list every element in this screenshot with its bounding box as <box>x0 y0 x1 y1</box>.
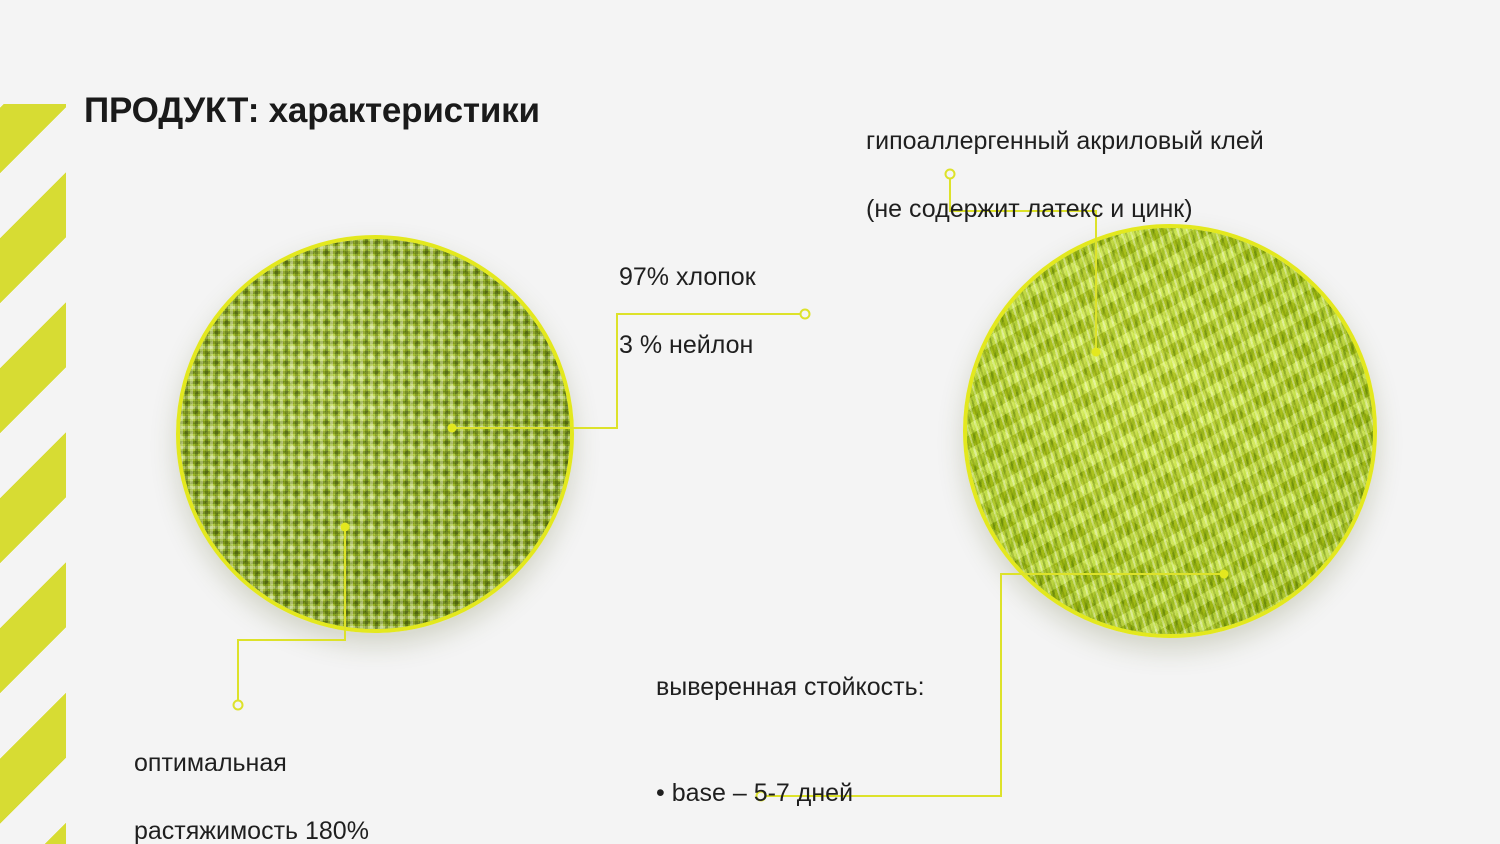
callout-composition: 97% хлопок 3 % нейлон <box>619 226 756 396</box>
callout-stretch: оптимальная растяжимость 180% <box>134 712 369 844</box>
callout-adhesive-line2: (не содержит латекс и цинк) <box>866 192 1264 226</box>
callout-composition-line2: 3 % нейлон <box>619 328 756 362</box>
callout-adhesive-line1: гипоаллергенный акриловый клей <box>866 124 1264 158</box>
fabric-swatch-left <box>176 235 574 633</box>
list-item: • base – 5-7 дней <box>656 776 925 812</box>
slide-root: ПРОДУКТ: характеристики <box>0 0 1500 844</box>
fabric-texture-woven <box>180 239 570 629</box>
page-title: ПРОДУКТ: характеристики <box>84 91 540 131</box>
fabric-swatch-right <box>963 224 1377 638</box>
diagonal-stripes-decoration <box>0 104 66 844</box>
callout-stretch-line2: растяжимость 180% <box>134 814 369 844</box>
fabric-texture-knit <box>967 228 1373 634</box>
callout-adhesive: гипоаллергенный акриловый клей (не содер… <box>866 90 1264 260</box>
callout-durability-list: • base – 5-7 дней • storm – 5-9 дней • a… <box>656 742 925 844</box>
stripe-pattern <box>0 104 66 844</box>
callout-durability-title: выверенная стойкость: <box>656 670 925 704</box>
connector-composition-end-dot <box>801 310 810 319</box>
callout-durability: выверенная стойкость: • base – 5-7 дней … <box>656 636 925 844</box>
callout-stretch-line1: оптимальная <box>134 746 369 780</box>
callout-composition-line1: 97% хлопок <box>619 260 756 294</box>
connector-stretch-end-dot <box>234 701 243 710</box>
